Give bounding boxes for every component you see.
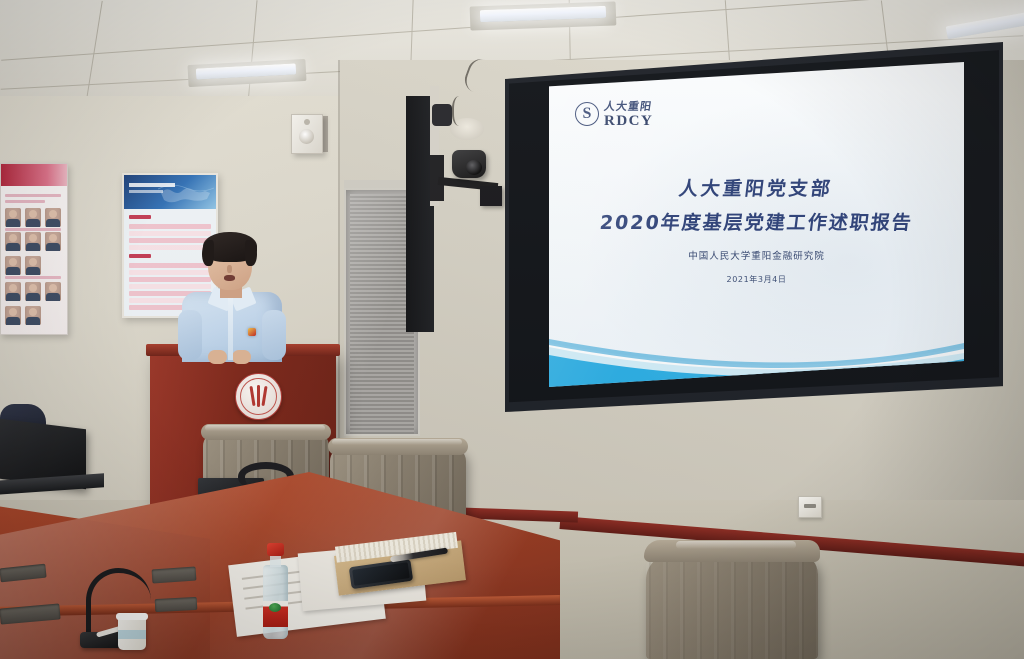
presenter-hair-side-left <box>202 240 214 266</box>
presenter-arm-right <box>262 310 286 360</box>
presenter-hand-right <box>232 350 251 364</box>
info-board-subtitle-bar <box>129 190 163 193</box>
presenter-shirt-placket <box>228 298 233 360</box>
conference-room-scene: S 人大重阳 RDCY 人大重阳党支部 2020年度基层党建工作述职报告 中国人… <box>0 0 1024 659</box>
poster-header-band <box>1 164 67 186</box>
cable-clamp <box>432 104 452 126</box>
blind-highlight <box>350 194 414 434</box>
mount-junction-box <box>480 186 502 206</box>
presenter-mouth <box>224 275 235 281</box>
info-board-title-bar <box>129 183 175 187</box>
bottle-cap[interactable] <box>267 543 284 556</box>
party-badge-pin-icon <box>248 328 256 336</box>
bottle-neck <box>270 555 281 567</box>
presenter-person <box>176 232 288 360</box>
university-seal-icon <box>235 373 282 420</box>
presenter-arm-left <box>178 310 202 360</box>
cup-rim <box>116 613 148 620</box>
paper-cup[interactable] <box>118 616 146 650</box>
photo-board-poster <box>0 163 68 335</box>
water-bottle[interactable] <box>262 543 288 639</box>
power-outlet[interactable] <box>798 496 822 518</box>
cup-band <box>118 630 146 639</box>
speaker-cone <box>299 129 314 144</box>
conference-chair[interactable] <box>646 538 818 659</box>
phone-screen[interactable] <box>352 562 410 586</box>
speaker-tweeter <box>304 119 310 125</box>
wall-speaker <box>291 114 323 154</box>
bottle-label-emblem <box>269 603 281 612</box>
presenter-nose <box>227 265 232 273</box>
presenter-hair-side-right <box>245 240 257 266</box>
screen-glare <box>549 62 964 387</box>
cable-grommet[interactable] <box>155 597 198 612</box>
presenter-hand-left <box>208 350 227 364</box>
camera-lens-icon <box>466 160 482 175</box>
mount-cable <box>452 96 470 126</box>
outlet-slot <box>804 504 816 508</box>
